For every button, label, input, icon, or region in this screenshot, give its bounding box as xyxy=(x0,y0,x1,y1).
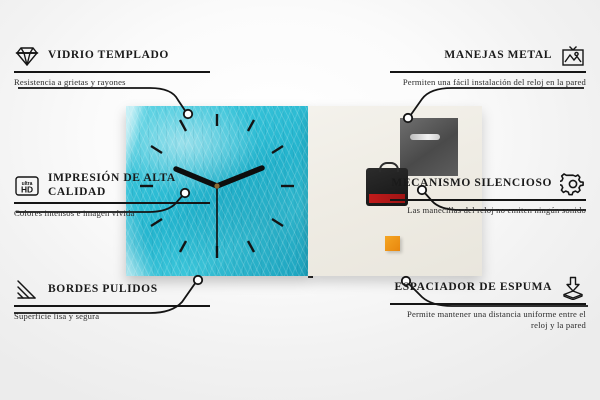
gear-icon xyxy=(560,172,586,196)
foam-spacer xyxy=(385,236,400,251)
press-down-icon xyxy=(560,276,586,300)
feature-espaciador-espuma: ESPACIADOR DE ESPUMA Permite mantener un… xyxy=(390,276,586,332)
divider xyxy=(390,71,586,73)
feature-description: Colores intensos e imagen vívida xyxy=(14,208,210,220)
divider xyxy=(14,305,210,307)
feature-title: BORDES PULIDOS xyxy=(48,283,210,297)
feature-description: Superficie lisa y segura xyxy=(14,311,210,323)
feature-description: Las manecillas del reloj no emiten ningú… xyxy=(390,205,586,217)
feature-title: MANEJAS METAL xyxy=(390,49,552,63)
feature-title: MECANISMO SILENCIOSO xyxy=(390,177,552,191)
feature-bordes-pulidos: BORDES PULIDOS Superficie lisa y segura xyxy=(14,278,210,322)
movement-hook xyxy=(379,162,399,172)
feature-impresion-alta-calidad: ultra HD IMPRESIÓN DE ALTA CALIDAD Color… xyxy=(14,172,210,219)
divider xyxy=(390,199,586,201)
svg-text:HD: HD xyxy=(21,184,33,194)
feature-mecanismo-silencioso: MECANISMO SILENCIOSO Las manecillas del … xyxy=(390,172,586,216)
feature-description: Resistencia a grietas y rayones xyxy=(14,77,210,89)
feature-title: ESPACIADOR DE ESPUMA xyxy=(390,281,552,295)
hanger-slot xyxy=(410,134,440,140)
picture-hanger-icon xyxy=(560,44,586,68)
feature-title: VIDRIO TEMPLADO xyxy=(48,49,210,63)
divider xyxy=(14,71,210,73)
feature-description: Permiten una fácil instalación del reloj… xyxy=(390,77,586,89)
feature-manejas-metal: MANEJAS METAL Permiten una fácil instala… xyxy=(390,44,586,88)
divider xyxy=(390,303,586,305)
polished-edges-icon xyxy=(14,278,40,302)
divider xyxy=(14,202,210,204)
metal-hanger xyxy=(400,118,458,176)
feature-title: IMPRESIÓN DE ALTA CALIDAD xyxy=(48,172,210,199)
feature-description: Permite mantener una distancia uniforme … xyxy=(390,309,586,332)
ultra-hd-icon: ultra HD xyxy=(14,174,40,198)
feature-vidrio-templado: VIDRIO TEMPLADO Resistencia a grietas y … xyxy=(14,44,210,88)
diamond-icon xyxy=(14,44,40,68)
infographic-canvas: VIDRIO TEMPLADO Resistencia a grietas y … xyxy=(0,0,600,400)
